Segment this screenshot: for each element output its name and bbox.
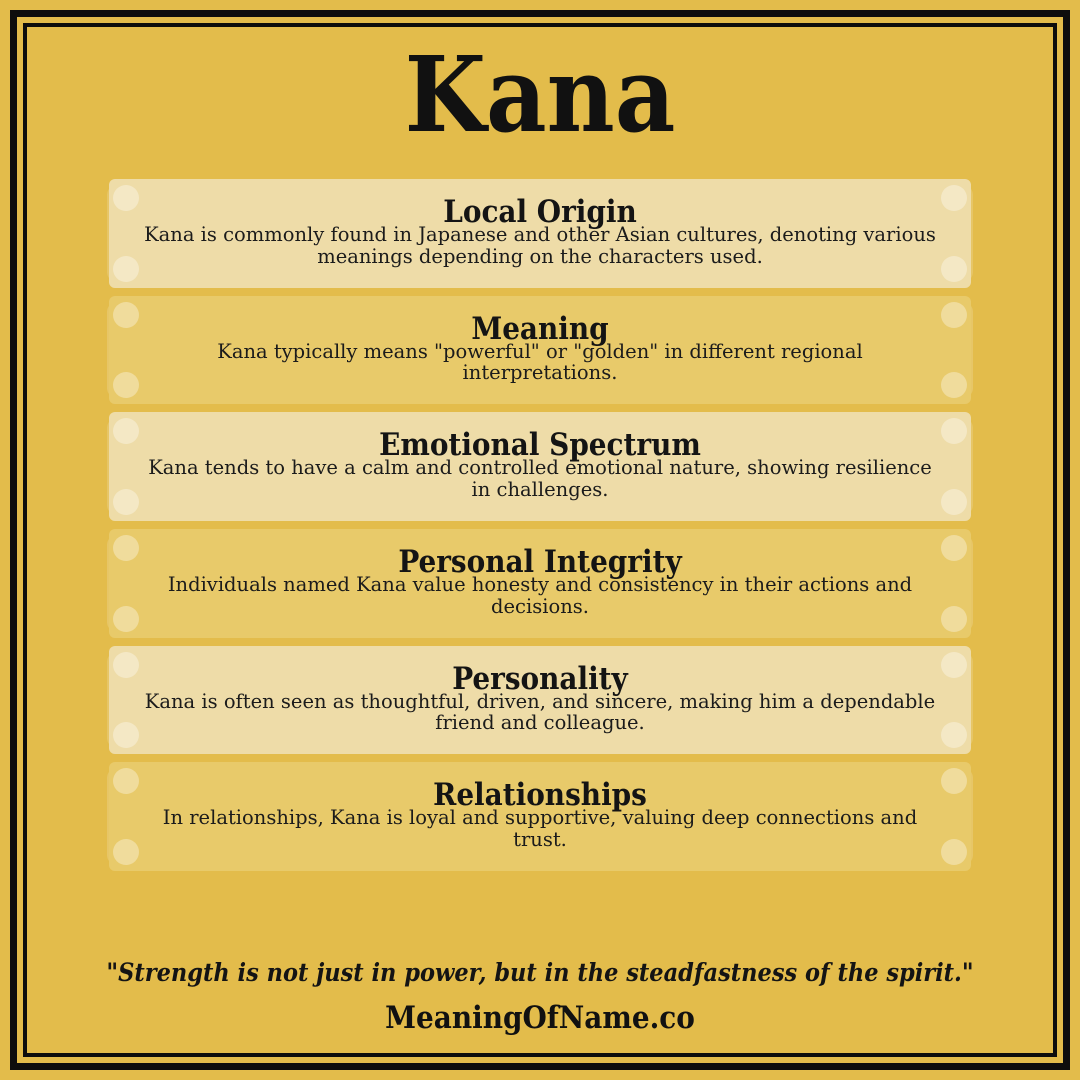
card-corner-dot-icon xyxy=(113,256,139,282)
card-description: Kana typically means "powerful" or "gold… xyxy=(143,341,937,385)
card-corner-dot-icon xyxy=(113,372,139,398)
card-corner-dot-icon xyxy=(113,606,139,632)
info-card: RelationshipsIn relationships, Kana is l… xyxy=(109,762,971,871)
card-body: RelationshipsIn relationships, Kana is l… xyxy=(109,762,971,871)
info-card: Emotional SpectrumKana tends to have a c… xyxy=(109,412,971,521)
card-corner-dot-icon xyxy=(941,606,967,632)
card-corner-dot-icon xyxy=(113,768,139,794)
card-heading: Local Origin xyxy=(143,197,937,228)
card-body: Local OriginKana is commonly found in Ja… xyxy=(109,179,971,288)
card-description: Kana is commonly found in Japanese and o… xyxy=(143,224,937,268)
card-corner-dot-icon xyxy=(941,652,967,678)
footer-quote: "Strength is not just in power, but in t… xyxy=(27,959,1053,987)
card-corner-dot-icon xyxy=(941,302,967,328)
card-description: Kana is often seen as thoughtful, driven… xyxy=(143,691,937,735)
card-body: Personal IntegrityIndividuals named Kana… xyxy=(109,529,971,638)
card-heading: Personality xyxy=(143,664,937,695)
page-title: Kana xyxy=(27,27,1053,147)
card-description: In relationships, Kana is loyal and supp… xyxy=(143,807,937,851)
info-card: PersonalityKana is often seen as thought… xyxy=(109,646,971,755)
card-corner-dot-icon xyxy=(941,489,967,515)
card-corner-dot-icon xyxy=(941,256,967,282)
card-corner-dot-icon xyxy=(941,839,967,865)
card-corner-dot-icon xyxy=(113,302,139,328)
poster-footer: "Strength is not just in power, but in t… xyxy=(27,959,1053,1053)
card-description: Kana tends to have a calm and controlled… xyxy=(143,457,937,501)
info-card: MeaningKana typically means "powerful" o… xyxy=(109,296,971,405)
footer-site-name: MeaningOfName.co xyxy=(27,1001,1053,1035)
card-corner-dot-icon xyxy=(941,185,967,211)
card-corner-dot-icon xyxy=(941,535,967,561)
card-corner-dot-icon xyxy=(113,722,139,748)
info-card: Personal IntegrityIndividuals named Kana… xyxy=(109,529,971,638)
card-corner-dot-icon xyxy=(113,185,139,211)
card-corner-dot-icon xyxy=(113,535,139,561)
info-card: Local OriginKana is commonly found in Ja… xyxy=(109,179,971,288)
card-heading: Emotional Spectrum xyxy=(143,430,937,461)
card-corner-dot-icon xyxy=(113,839,139,865)
card-corner-dot-icon xyxy=(941,722,967,748)
card-body: PersonalityKana is often seen as thought… xyxy=(109,646,971,755)
card-body: Emotional SpectrumKana tends to have a c… xyxy=(109,412,971,521)
card-description: Individuals named Kana value honesty and… xyxy=(143,574,937,618)
card-corner-dot-icon xyxy=(941,418,967,444)
card-corner-dot-icon xyxy=(941,372,967,398)
card-heading: Meaning xyxy=(143,314,937,345)
card-corner-dot-icon xyxy=(941,768,967,794)
poster-content: Kana Local OriginKana is commonly found … xyxy=(27,27,1053,1053)
card-body: MeaningKana typically means "powerful" o… xyxy=(109,296,971,405)
poster-canvas: Kana Local OriginKana is commonly found … xyxy=(0,0,1080,1080)
card-corner-dot-icon xyxy=(113,418,139,444)
card-corner-dot-icon xyxy=(113,652,139,678)
card-heading: Relationships xyxy=(143,780,937,811)
card-corner-dot-icon xyxy=(113,489,139,515)
info-card-list: Local OriginKana is commonly found in Ja… xyxy=(109,179,971,879)
card-heading: Personal Integrity xyxy=(143,547,937,578)
